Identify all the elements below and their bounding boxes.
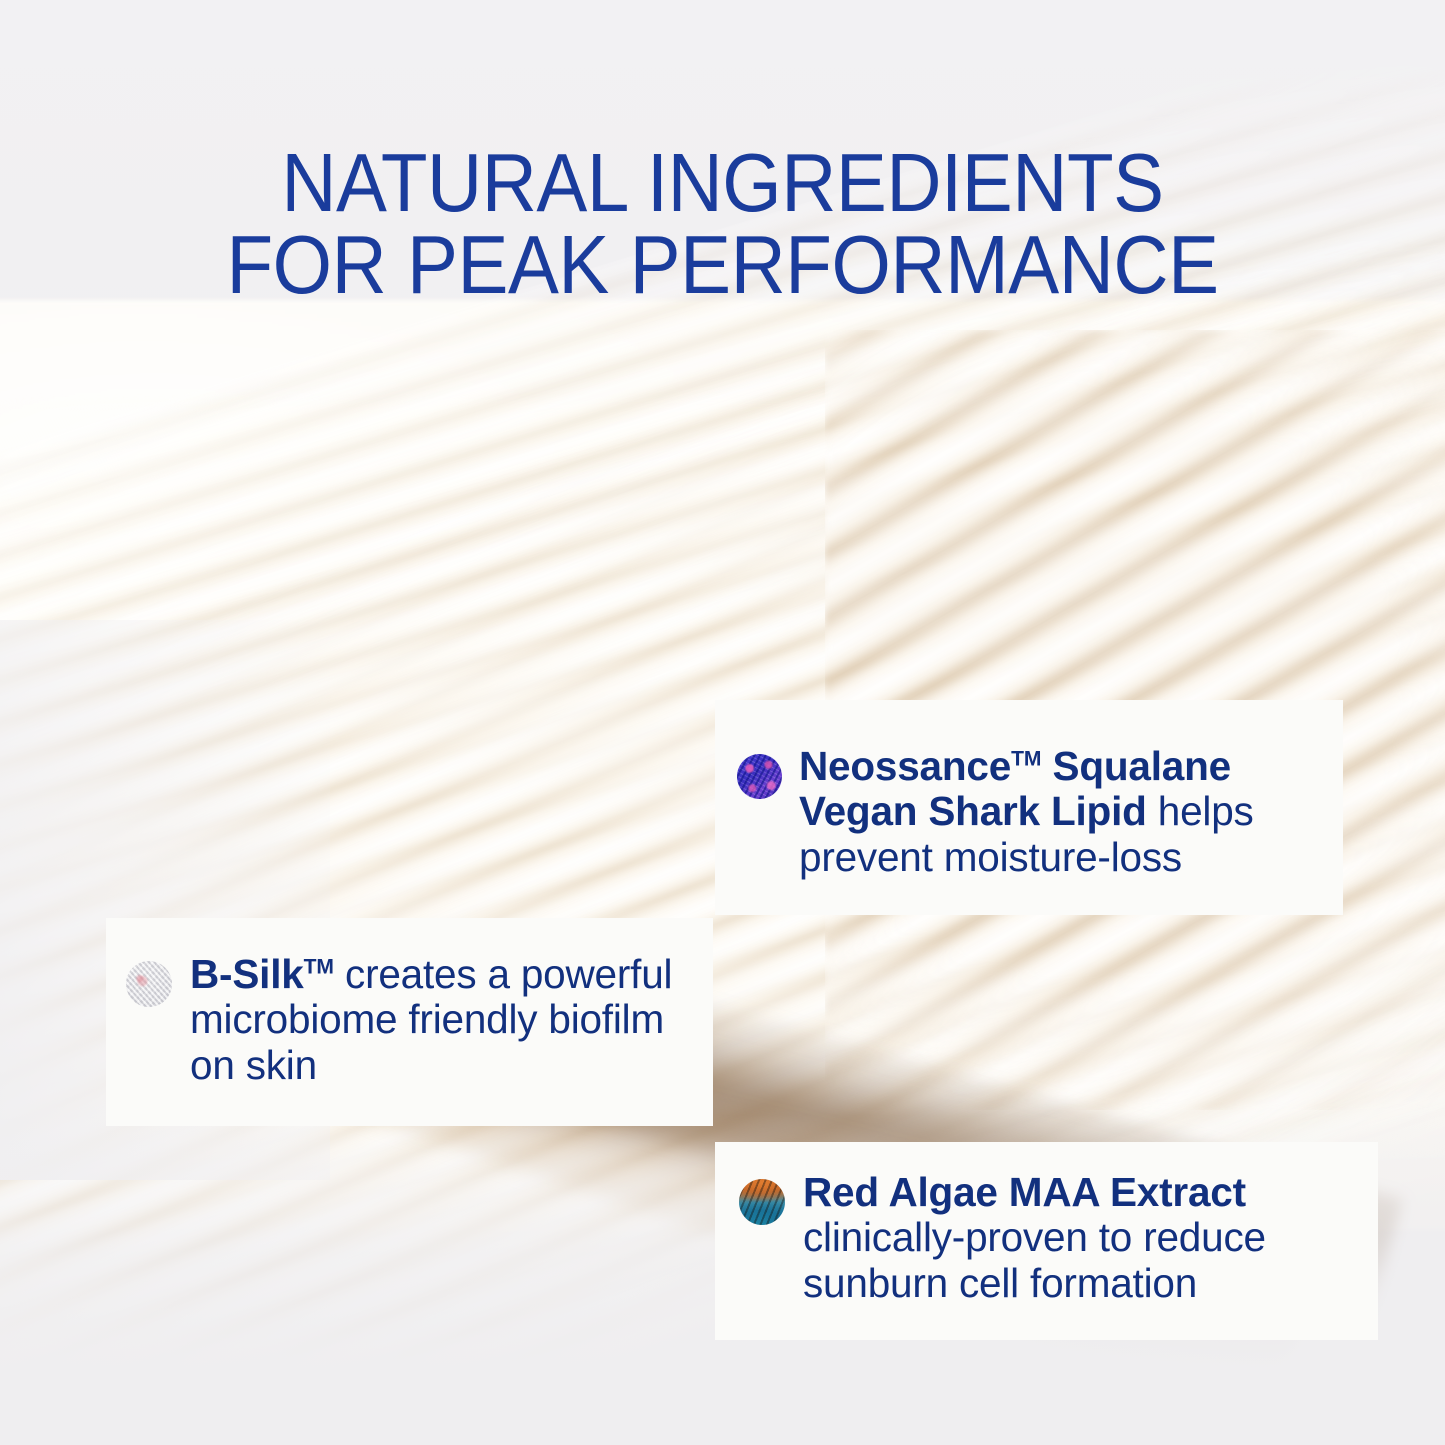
trademark-symbol-bsilk: TM bbox=[304, 956, 334, 979]
ingredient-name-squalane: Neossance bbox=[799, 743, 1011, 789]
product-infographic: NATURAL INGREDIENTS FOR PEAK PERFORMANCE… bbox=[0, 0, 1445, 1445]
ingredient-card-bsilk: B-SilkTM creates a powerful microbiome f… bbox=[106, 918, 713, 1126]
trademark-symbol-squalane: TM bbox=[1011, 748, 1041, 771]
ingredient-card-squalane: NeossanceTM Squalane Vegan Shark Lipid h… bbox=[715, 700, 1343, 915]
red-algae-underwater-icon bbox=[739, 1179, 785, 1225]
page-title: NATURAL INGREDIENTS FOR PEAK PERFORMANCE bbox=[58, 142, 1387, 306]
ingredient-card-squalane-text: NeossanceTM Squalane Vegan Shark Lipid h… bbox=[799, 744, 1321, 880]
ingredient-name-redalgae: Red Algae MAA Extract bbox=[803, 1169, 1246, 1215]
ingredient-card-redalgae-text: Red Algae MAA Extract clinically-proven … bbox=[803, 1170, 1358, 1306]
ingredient-card-redalgae: Red Algae MAA Extract clinically-proven … bbox=[715, 1142, 1378, 1340]
ingredient-name-bsilk: B-Silk bbox=[190, 951, 304, 997]
squalane-microscopy-icon bbox=[737, 754, 782, 799]
ingredient-description-redalgae: clinically-proven to reduce sunburn cell… bbox=[803, 1214, 1266, 1305]
bsilk-fiber-icon bbox=[126, 961, 172, 1007]
ingredient-card-bsilk-text: B-SilkTM creates a powerful microbiome f… bbox=[190, 952, 693, 1088]
